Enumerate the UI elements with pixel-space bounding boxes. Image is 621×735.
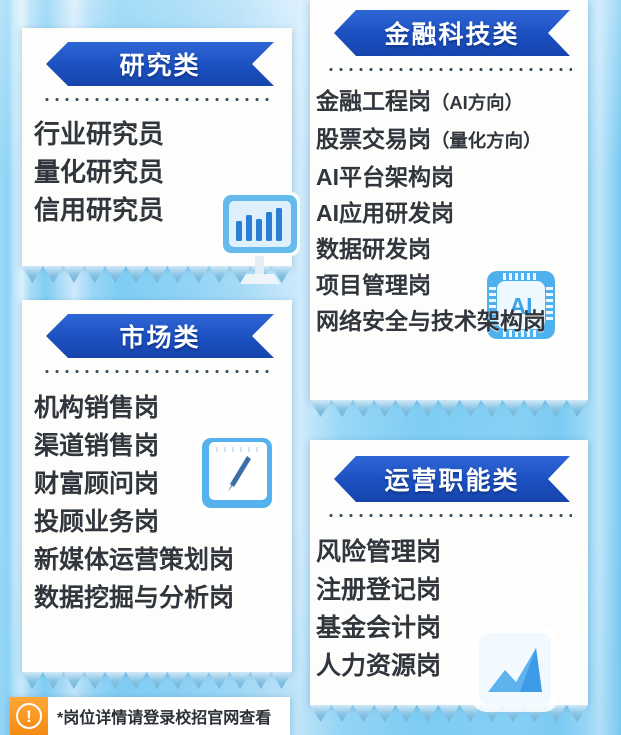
category-banner-market: 市场类 [46, 314, 274, 358]
job-item: AI应用研发岗 [316, 195, 588, 231]
category-banner-fintech: 金融科技类 [334, 10, 570, 56]
warning-icon: ! [10, 697, 48, 735]
category-title-fintech: 金融科技类 [384, 15, 519, 51]
job-item: 行业研究员 [34, 115, 292, 153]
job-item: 量化研究员 [34, 153, 292, 191]
category-banner-operations: 运营职能类 [334, 456, 570, 502]
job-item: 网络安全与技术架构岗 [316, 303, 588, 339]
job-list-research: 行业研究员 量化研究员 信用研究员 [22, 101, 292, 229]
job-item: 信用研究员 [34, 191, 292, 229]
job-item: 投顾业务岗 [34, 503, 292, 541]
category-card-operations: 运营职能类 风险管理岗 注册登记岗 基金会计岗 人力资源岗 [310, 440, 588, 705]
job-item: 人力资源岗 [316, 647, 588, 685]
category-title-market: 市场类 [119, 318, 200, 354]
job-item: 机构销售岗 [34, 389, 292, 427]
category-title-research: 研究类 [119, 46, 200, 82]
footnote-text: *岗位详情请登录校招官网查看 [48, 704, 271, 728]
category-banner-research: 研究类 [46, 42, 274, 86]
exclamation-glyph: ! [16, 703, 42, 729]
job-list-market: 机构销售岗 渠道销售岗 财富顾问岗 投顾业务岗 新媒体运营策划岗 数据挖掘与分析… [22, 373, 292, 617]
category-card-fintech: 金融科技类 AI 金融工程岗（AI方向） 股票交易岗（量化方向） AI平台架构岗… [310, 0, 588, 400]
job-item: 基金会计岗 [316, 609, 588, 647]
job-item: 数据研发岗 [316, 231, 588, 267]
job-item: 新媒体运营策划岗 [34, 541, 292, 579]
job-item: 渠道销售岗 [34, 427, 292, 465]
job-item: AI平台架构岗 [316, 159, 588, 195]
job-item: 股票交易岗（量化方向） [316, 121, 588, 159]
job-item: 金融工程岗（AI方向） [316, 83, 588, 121]
job-item: 项目管理岗 [316, 267, 588, 303]
category-title-operations: 运营职能类 [384, 461, 519, 497]
job-item: 风险管理岗 [316, 533, 588, 571]
category-card-research: 研究类 行业研究员 量化研究员 信用研究员 [22, 28, 292, 266]
job-item: 财富顾问岗 [34, 465, 292, 503]
category-card-market: 市场类 机构销售岗 渠道销售岗 财富顾问岗 投顾业务岗 新媒体运营策划岗 数据挖… [22, 300, 292, 672]
job-item: 数据挖掘与分析岗 [34, 579, 292, 617]
footnote-bar: ! *岗位详情请登录校招官网查看 [10, 697, 290, 735]
job-list-fintech: 金融工程岗（AI方向） 股票交易岗（量化方向） AI平台架构岗 AI应用研发岗 … [310, 71, 588, 339]
job-list-operations: 风险管理岗 注册登记岗 基金会计岗 人力资源岗 [310, 517, 588, 685]
job-item: 注册登记岗 [316, 571, 588, 609]
